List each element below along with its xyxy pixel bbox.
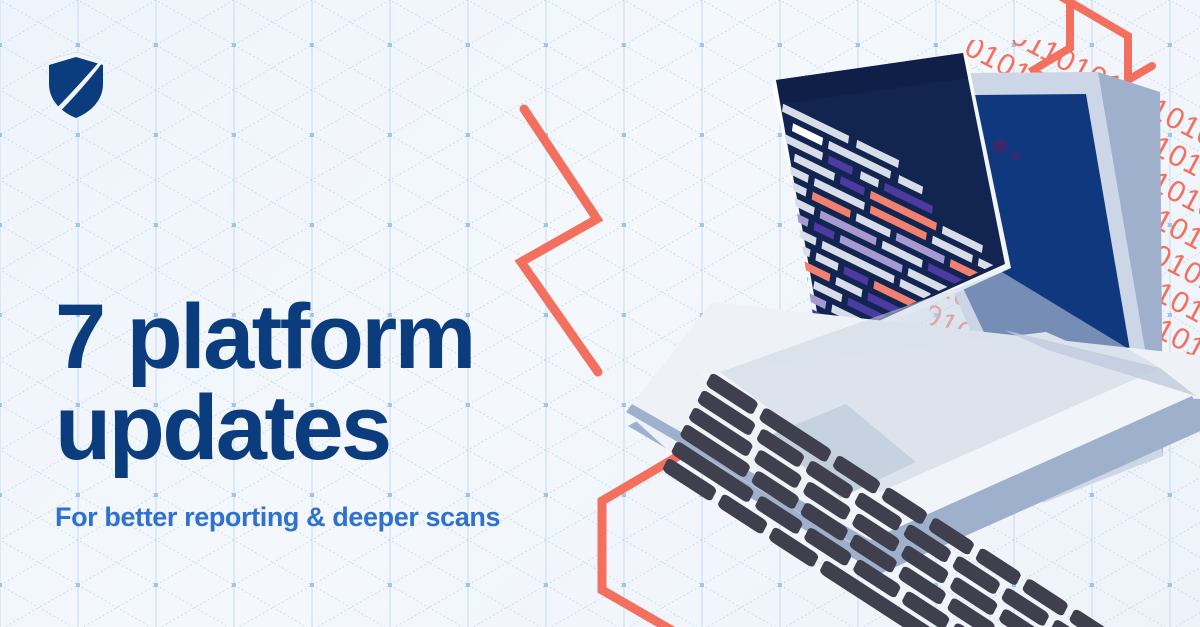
page-title: 7 platform updates xyxy=(55,292,675,474)
subtitle: For better reporting & deeper scans xyxy=(55,502,675,533)
shield-swoosh-logo-icon xyxy=(45,48,107,120)
promo-banner: 01011010100101010101010 0101010100101010… xyxy=(0,0,1200,627)
headline-block: 7 platform updates For better reporting … xyxy=(55,292,675,533)
